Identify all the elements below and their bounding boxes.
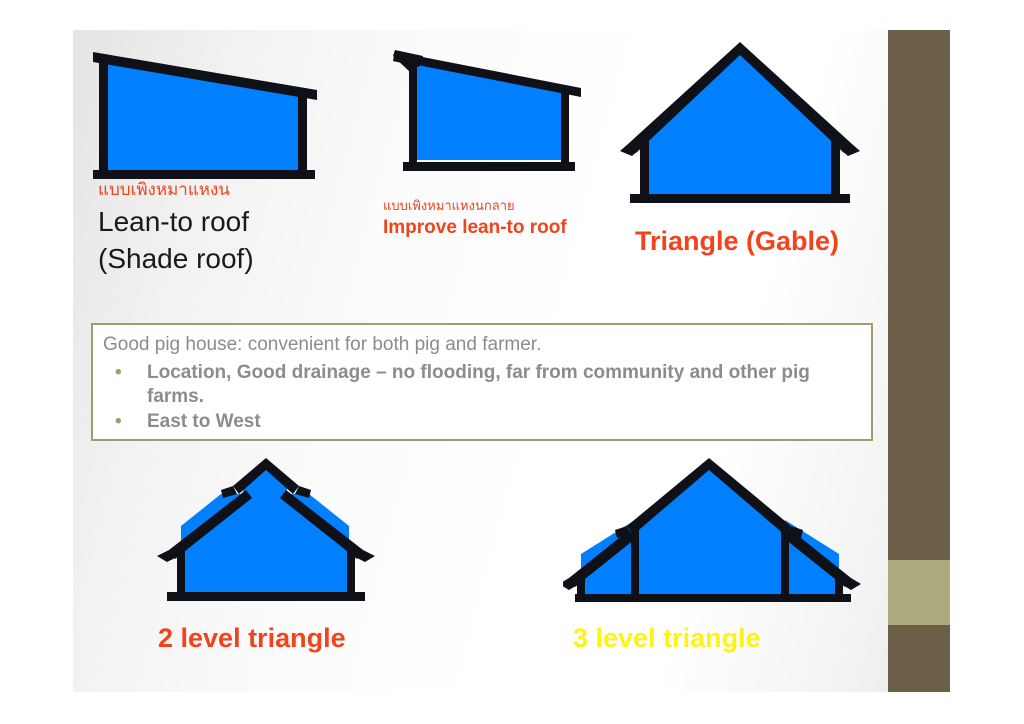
info-box-headline: Good pig house: convenient for both pig … [103, 333, 861, 356]
decorative-band-dark-top [888, 30, 950, 560]
list-item: • Location, Good drainage – no flooding,… [103, 361, 861, 408]
improved-lean-to-caption-en: Improve lean-to roof [383, 217, 567, 239]
decorative-band-light [888, 560, 950, 625]
gable-caption: Triangle (Gable) [635, 226, 839, 257]
three-level-caption-en: 3 level triangle [573, 623, 761, 654]
improved-lean-to-caption-thai: แบบเพิงหมาแหงนกลาย [383, 200, 567, 214]
lean-to-caption-thai: แบบเพิงหมาแหงน [98, 182, 254, 200]
two-level-caption-en: 2 level triangle [158, 623, 346, 654]
improved-lean-to-roof-diagram [393, 38, 593, 188]
info-box: Good pig house: convenient for both pig … [91, 323, 873, 441]
lean-to-caption: แบบเพิงหมาแหงน Lean-to roof (Shade roof) [98, 182, 254, 278]
improved-lean-to-caption: แบบเพิงหมาแหงนกลาย Improve lean-to roof [383, 200, 567, 239]
two-level-caption: 2 level triangle [158, 623, 346, 654]
list-item: • East to West [103, 410, 861, 434]
improved-lean-to-roof-icon [393, 38, 593, 188]
gable-roof-icon [618, 30, 863, 215]
decorative-band-dark-bottom [888, 625, 950, 692]
three-level-triangle-diagram [563, 450, 863, 610]
bullet-icon: • [115, 410, 122, 434]
gable-roof-diagram [618, 30, 863, 215]
three-level-gable-icon [563, 450, 863, 610]
two-level-gable-icon [153, 450, 383, 610]
lean-to-caption-line1: Lean-to roof [98, 204, 254, 241]
info-box-list: • Location, Good drainage – no flooding,… [103, 361, 861, 434]
bullet-icon: • [115, 361, 122, 385]
two-level-triangle-diagram [153, 450, 383, 610]
list-item-text: East to West [147, 411, 261, 432]
list-item-text: Location, Good drainage – no flooding, f… [147, 362, 810, 407]
gable-caption-en: Triangle (Gable) [635, 226, 839, 257]
lean-to-roof-diagram [85, 34, 335, 199]
lean-to-caption-line2: (Shade roof) [98, 241, 254, 278]
lean-to-roof-icon [85, 34, 335, 199]
slide-canvas: แบบเพิงหมาแหงน Lean-to roof (Shade roof)… [73, 30, 950, 692]
three-level-caption: 3 level triangle [573, 623, 761, 654]
